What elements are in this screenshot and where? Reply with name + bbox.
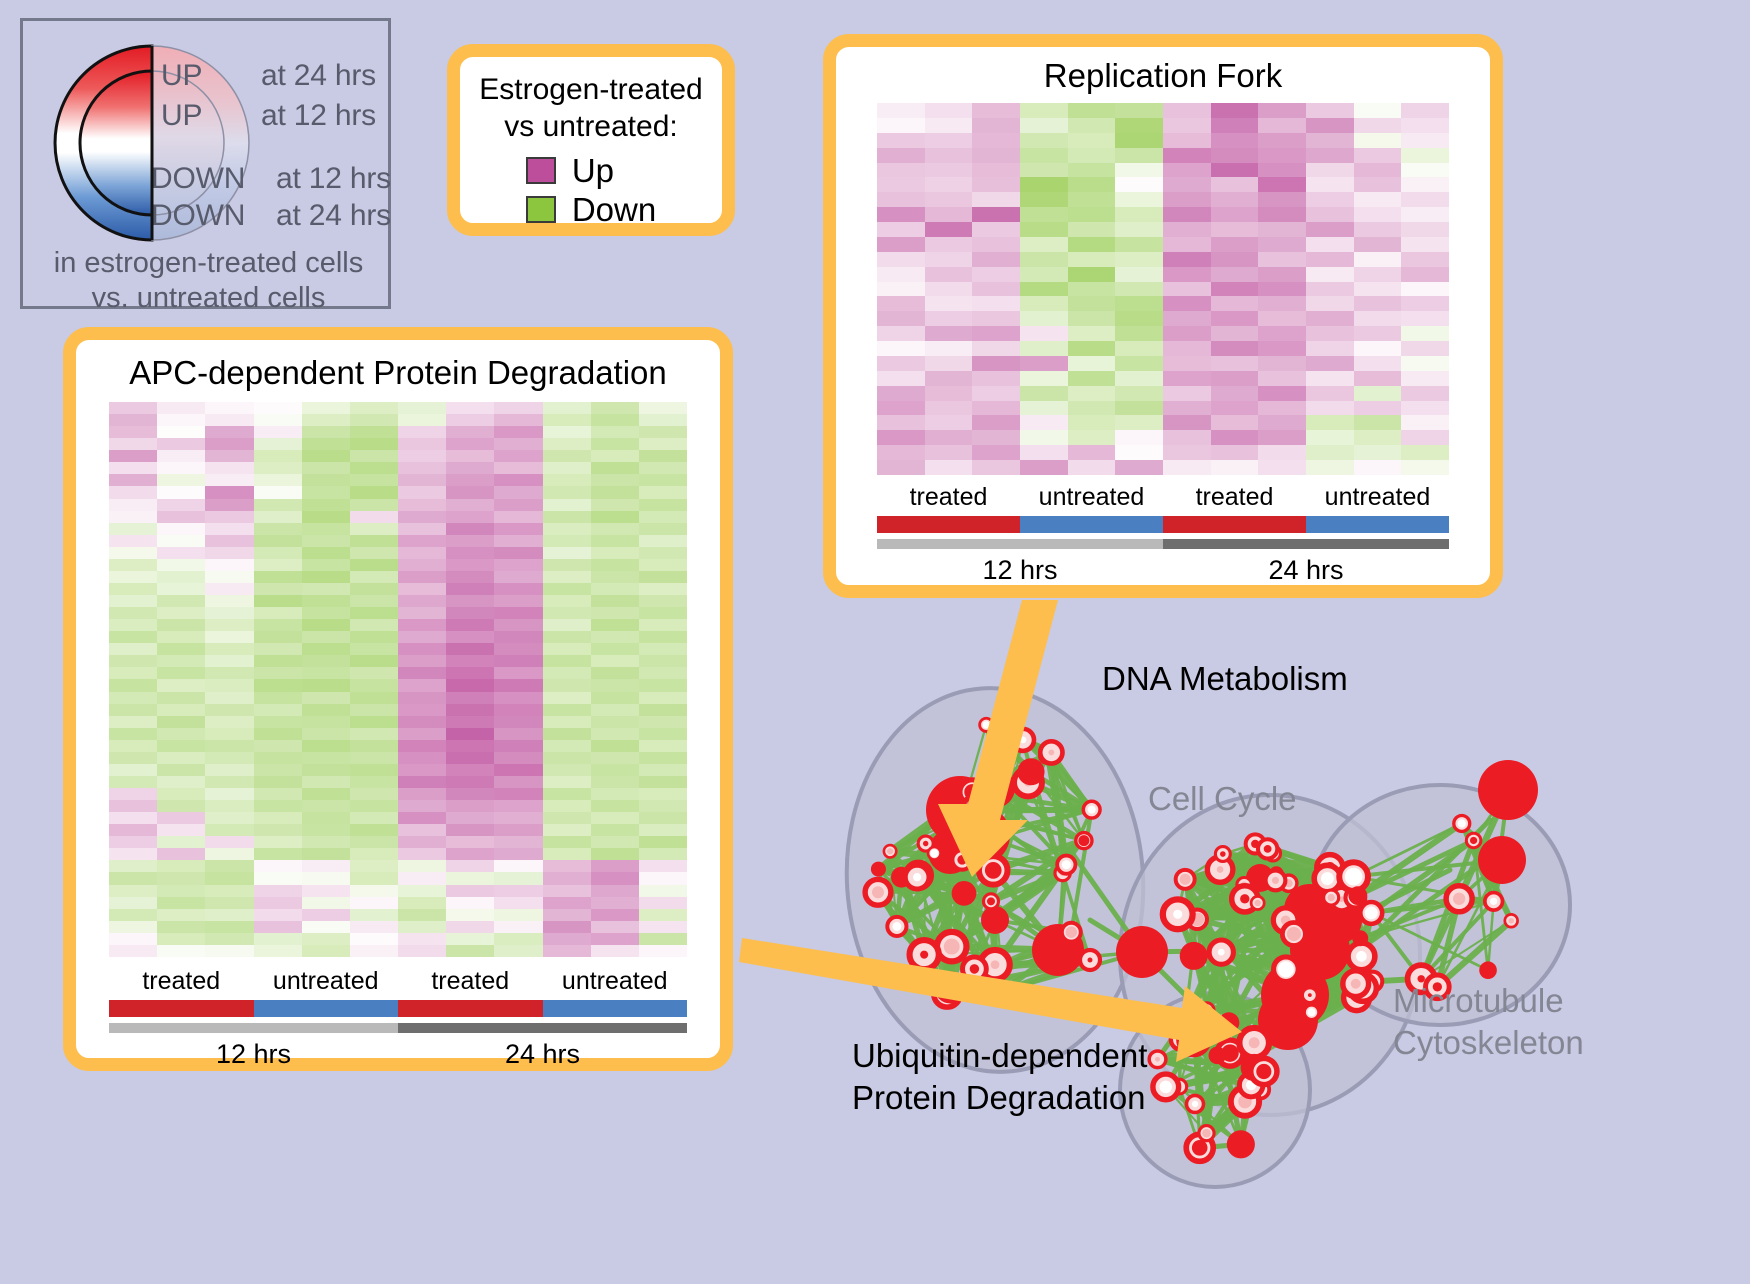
- heatmap-cell: [494, 897, 542, 909]
- heatmap-cell: [972, 311, 1020, 326]
- heatmap-cell: [972, 401, 1020, 416]
- heatmap-cell: [543, 933, 591, 945]
- heatmap-cell: [1115, 133, 1163, 148]
- heatmap-cell: [1306, 267, 1354, 282]
- heatmap-cell: [1354, 177, 1402, 192]
- network-node: [981, 906, 1009, 934]
- heatmap-row: [109, 885, 687, 897]
- heatmap-row: [109, 438, 687, 450]
- heatmap-cell: [205, 885, 253, 897]
- heatmap-cell: [639, 716, 687, 728]
- heatmap-cell: [205, 752, 253, 764]
- heatmap-cell: [1306, 401, 1354, 416]
- heatmap-cell: [157, 474, 205, 486]
- axis-group-label: treated: [109, 965, 254, 997]
- heatmap-cell: [972, 445, 1020, 460]
- heatmap-cell: [1115, 267, 1163, 282]
- heatmap-cell: [1115, 371, 1163, 386]
- heatmap-row: [109, 631, 687, 643]
- heatmap-cell: [543, 824, 591, 836]
- heatmap-cell: [398, 511, 446, 523]
- key-time-0: at 24 hrs: [261, 59, 376, 93]
- heatmap-row: [109, 486, 687, 498]
- legend-item-up: Up: [526, 151, 656, 190]
- pathway-network-diagram: DNA Metabolism Cell Cycle Microtubule Cy…: [790, 620, 1750, 1279]
- heatmap-row: [877, 207, 1449, 222]
- heatmap-cell: [925, 401, 973, 416]
- heatmap-cell: [109, 438, 157, 450]
- heatmap-cell: [157, 511, 205, 523]
- heatmap-cell: [494, 655, 542, 667]
- heatmap-cell: [302, 704, 350, 716]
- heatmap-cell: [591, 535, 639, 547]
- heatmap-cell: [1306, 460, 1354, 475]
- heatmap-cell: [1115, 148, 1163, 163]
- heatmap-cell: [109, 728, 157, 740]
- heatmap-row: [109, 860, 687, 872]
- heatmap-cell: [1306, 356, 1354, 371]
- heatmap-cell: [302, 848, 350, 860]
- heatmap-cell: [1354, 282, 1402, 297]
- heatmap-cell: [205, 776, 253, 788]
- network-node-core: [1264, 845, 1272, 853]
- heatmap-cell: [1306, 237, 1354, 252]
- heatmap-cell: [109, 607, 157, 619]
- heatmap-row: [877, 341, 1449, 356]
- heatmap-cell: [494, 486, 542, 498]
- heatmap-cell: [591, 643, 639, 655]
- heatmap-cell: [494, 824, 542, 836]
- heatmap-cell: [350, 559, 398, 571]
- heatmap-cell: [591, 945, 639, 957]
- heatmap-cell: [109, 499, 157, 511]
- heatmap-cell: [494, 740, 542, 752]
- heatmap-cell: [398, 848, 446, 860]
- heatmap-cell: [1211, 103, 1259, 118]
- heatmap-cell: [925, 445, 973, 460]
- network-node-core: [1345, 868, 1363, 886]
- heatmap-cell: [205, 631, 253, 643]
- heatmap-cell: [1306, 118, 1354, 133]
- heatmap-cell: [494, 788, 542, 800]
- heatmap-cell: [254, 933, 302, 945]
- heatmap-cell: [591, 414, 639, 426]
- heatmap-cell: [446, 836, 494, 848]
- heatmap-cell: [543, 945, 591, 957]
- heatmap-cell: [398, 764, 446, 776]
- heatmap-cell: [157, 812, 205, 824]
- heatmap-cell: [591, 438, 639, 450]
- heatmap-cell: [494, 909, 542, 921]
- heatmap-cell: [350, 523, 398, 535]
- heatmap-cell: [1211, 326, 1259, 341]
- heatmap-cell: [254, 812, 302, 824]
- heatmap-cell: [254, 402, 302, 414]
- heatmap-cell: [1354, 371, 1402, 386]
- heatmap-row: [109, 921, 687, 933]
- heatmap-cell: [109, 764, 157, 776]
- heatmap-cell: [205, 728, 253, 740]
- heatmap-cell: [302, 595, 350, 607]
- heatmap-cell: [109, 921, 157, 933]
- heatmap-cell: [254, 631, 302, 643]
- heatmap-cell: [1306, 148, 1354, 163]
- network-node-core: [1256, 1064, 1271, 1079]
- heatmap-row: [877, 177, 1449, 192]
- heatmap-cell: [639, 788, 687, 800]
- heatmap-row: [877, 103, 1449, 118]
- heatmap-cell: [639, 655, 687, 667]
- heatmap-cell: [109, 486, 157, 498]
- heatmap-row: [109, 752, 687, 764]
- heatmap-cell: [302, 499, 350, 511]
- heatmap-cell: [877, 415, 925, 430]
- heatmap-cell: [254, 499, 302, 511]
- heatmap-cell: [494, 462, 542, 474]
- heatmap-cell: [877, 430, 925, 445]
- heatmap-cell: [1115, 192, 1163, 207]
- heatmap-cell: [1258, 356, 1306, 371]
- heatmap-cell: [109, 511, 157, 523]
- heatmap-cell: [446, 872, 494, 884]
- heatmap-cell: [1068, 460, 1116, 475]
- heatmap-cell: [1306, 103, 1354, 118]
- heatmap-cell: [446, 704, 494, 716]
- heatmap-cell: [494, 752, 542, 764]
- axis-time-label: 12 hrs: [877, 549, 1163, 591]
- heatmap-cell: [639, 426, 687, 438]
- heatmap-cell: [109, 836, 157, 848]
- heatmap-cell: [350, 535, 398, 547]
- heatmap-cell: [109, 752, 157, 764]
- heatmap-row: [877, 163, 1449, 178]
- heatmap-cell: [591, 402, 639, 414]
- heatmap-cell: [591, 764, 639, 776]
- heatmap-cell: [591, 885, 639, 897]
- network-node: [966, 799, 987, 820]
- heatmap-row: [109, 764, 687, 776]
- network-node-core: [947, 984, 955, 992]
- network-node-core: [985, 862, 1002, 879]
- heatmap-cell: [398, 583, 446, 595]
- heatmap-cell: [157, 897, 205, 909]
- heatmap-cell: [877, 356, 925, 371]
- heatmap-cell: [1068, 103, 1116, 118]
- heatmap-cell: [1068, 282, 1116, 297]
- heatmap-cell: [591, 595, 639, 607]
- heatmap-cell: [254, 486, 302, 498]
- heatmap-row: [877, 267, 1449, 282]
- heatmap-cell: [446, 897, 494, 909]
- heatmap-cell: [1354, 356, 1402, 371]
- heatmap-cell: [157, 752, 205, 764]
- heatmap-cell: [543, 607, 591, 619]
- heatmap-cell: [494, 595, 542, 607]
- heatmap-cell: [157, 824, 205, 836]
- heatmap-cell: [877, 282, 925, 297]
- heatmap-cell: [205, 716, 253, 728]
- heatmap-cell: [109, 535, 157, 547]
- axis-time-segment: [877, 539, 1163, 549]
- heatmap-cell: [205, 499, 253, 511]
- heatmap-cell: [350, 740, 398, 752]
- heatmap-cell: [877, 103, 925, 118]
- heatmap-cell: [109, 414, 157, 426]
- network-node-core: [1308, 1008, 1316, 1016]
- heatmap-cell: [1020, 386, 1068, 401]
- heatmap-cell: [494, 643, 542, 655]
- heatmap-cell: [205, 788, 253, 800]
- heatmap-cell: [302, 571, 350, 583]
- heatmap-cell: [1401, 222, 1449, 237]
- heatmap-cell: [1020, 311, 1068, 326]
- heatmap-cell: [109, 776, 157, 788]
- heatmap-cell: [1115, 207, 1163, 222]
- heatmap-cell: [543, 438, 591, 450]
- heatmap-cell: [1258, 133, 1306, 148]
- heatmap-cell: [639, 414, 687, 426]
- network-node-core: [1328, 894, 1335, 901]
- heatmap-cell: [877, 118, 925, 133]
- key-caption-line1: in estrogen-treated cells: [23, 244, 394, 282]
- heatmap-cell: [543, 897, 591, 909]
- heatmap-cell: [494, 607, 542, 619]
- heatmap-cell: [1163, 341, 1211, 356]
- heatmap-cell: [446, 945, 494, 957]
- heatmap-cell: [157, 595, 205, 607]
- heatmap-cell: [1306, 252, 1354, 267]
- heatmap-cell: [446, 752, 494, 764]
- heatmap-cell: [109, 945, 157, 957]
- network-node: [952, 881, 977, 906]
- heatmap-cell: [157, 535, 205, 547]
- heatmap-row: [109, 595, 687, 607]
- network-node-core: [1203, 1007, 1210, 1014]
- heatmap-cell: [205, 921, 253, 933]
- legend-swatch-up-icon: [526, 157, 556, 184]
- network-node-core: [991, 960, 1000, 969]
- heatmap-cell: [1258, 460, 1306, 475]
- heatmap-cell: [446, 426, 494, 438]
- heatmap-cell: [1258, 430, 1306, 445]
- heatmap-cell: [1306, 207, 1354, 222]
- heatmap-cell: [1163, 163, 1211, 178]
- heatmap-cell: [1354, 460, 1402, 475]
- heatmap-cell: [925, 163, 973, 178]
- heatmap-cell: [972, 415, 1020, 430]
- heatmap-cell: [1258, 326, 1306, 341]
- heatmap-cell: [1115, 252, 1163, 267]
- heatmap-cell: [494, 571, 542, 583]
- heatmap-row: [109, 402, 687, 414]
- heatmap-cell: [157, 704, 205, 716]
- heatmap-cell: [639, 535, 687, 547]
- heatmap-cell: [1306, 371, 1354, 386]
- heatmap-cell: [254, 885, 302, 897]
- heatmap-cell: [591, 511, 639, 523]
- heatmap-cell: [925, 296, 973, 311]
- heatmap-cell: [446, 438, 494, 450]
- heatmap-cell: [446, 583, 494, 595]
- heatmap-row: [109, 499, 687, 511]
- heatmap-cell: [1354, 148, 1402, 163]
- heatmap-cell: [1401, 430, 1449, 445]
- heatmap-cell: [157, 607, 205, 619]
- network-node: [1173, 1008, 1197, 1032]
- heatmap-cell: [446, 764, 494, 776]
- heatmap-cell: [972, 118, 1020, 133]
- network-node-core: [1272, 877, 1279, 884]
- heatmap-cell: [350, 885, 398, 897]
- heatmap-cell: [925, 356, 973, 371]
- heatmap-cell: [591, 426, 639, 438]
- heatmap-cell: [1068, 356, 1116, 371]
- heatmap-cell: [109, 462, 157, 474]
- heatmap-cell: [205, 571, 253, 583]
- heatmap-cell: [877, 460, 925, 475]
- heatmap-cell: [1401, 177, 1449, 192]
- heatmap-cell: [1020, 371, 1068, 386]
- network-node-core: [983, 721, 990, 728]
- heatmap-cell: [1068, 252, 1116, 267]
- heatmap-cell: [1258, 445, 1306, 460]
- network-node-core: [1470, 837, 1477, 844]
- heatmap-cell: [398, 643, 446, 655]
- heatmap-cell: [398, 523, 446, 535]
- heatmap-cell: [350, 474, 398, 486]
- heatmap-cell: [1258, 371, 1306, 386]
- heatmap-cell: [494, 414, 542, 426]
- heatmap-row: [109, 679, 687, 691]
- network-node-core: [887, 848, 893, 854]
- network-node-core: [1087, 957, 1092, 962]
- heatmap-cell: [205, 402, 253, 414]
- heatmap-cell: [157, 716, 205, 728]
- heatmap-cell: [398, 788, 446, 800]
- heatmap-cell: [639, 667, 687, 679]
- heatmap-cell: [543, 631, 591, 643]
- heatmap-cell: [639, 607, 687, 619]
- heatmap-cell: [1163, 311, 1211, 326]
- heatmap-cell: [302, 812, 350, 824]
- key-caption-line2: vs. untreated cells: [23, 279, 394, 317]
- heatmap-cell: [157, 740, 205, 752]
- heatmap-cell: [109, 559, 157, 571]
- heatmap-cell: [109, 848, 157, 860]
- heatmap-cell: [1068, 133, 1116, 148]
- heatmap-cell: [543, 511, 591, 523]
- heatmap-cell: [157, 692, 205, 704]
- heatmap-cell: [254, 824, 302, 836]
- heatmap-cell: [1354, 207, 1402, 222]
- heatmap-cell: [398, 897, 446, 909]
- heatmap-cell: [639, 438, 687, 450]
- heatmap-cell: [1401, 207, 1449, 222]
- heatmap-cell: [494, 716, 542, 728]
- heatmap-cell: [398, 474, 446, 486]
- heatmap-cell: [972, 282, 1020, 297]
- heatmap-row: [109, 848, 687, 860]
- heatmap-cell: [205, 812, 253, 824]
- panel-title-replication-fork: Replication Fork: [836, 57, 1490, 95]
- heatmap-cell: [639, 499, 687, 511]
- heatmap-cell: [446, 800, 494, 812]
- heatmap-cell: [591, 812, 639, 824]
- heatmap-cell: [254, 655, 302, 667]
- heatmap-cell: [109, 812, 157, 824]
- heatmap-cell: [972, 222, 1020, 237]
- heatmap-cell: [1020, 341, 1068, 356]
- heatmap-cell: [591, 776, 639, 788]
- heatmap-cell: [157, 583, 205, 595]
- heatmap-cell: [543, 860, 591, 872]
- heatmap-cell: [972, 192, 1020, 207]
- heatmap-cell: [205, 860, 253, 872]
- heatmap-cell: [398, 631, 446, 643]
- network-graph: [790, 620, 1750, 1279]
- network-node-core: [920, 951, 928, 959]
- heatmap-cell: [205, 547, 253, 559]
- heatmap-cell: [543, 872, 591, 884]
- network-node-core: [1508, 918, 1514, 924]
- heatmap-cell: [254, 619, 302, 631]
- heatmap-cell: [254, 559, 302, 571]
- heatmap-cell: [1068, 237, 1116, 252]
- heatmap-row: [877, 401, 1449, 416]
- heatmap-cell: [398, 679, 446, 691]
- heatmap-cell: [205, 679, 253, 691]
- heatmap-cell: [302, 885, 350, 897]
- network-node-core: [998, 986, 1008, 996]
- cluster-label-ubiquitin-line2: Protein Degradation: [852, 1077, 1147, 1119]
- heatmap-row: [877, 133, 1449, 148]
- heatmap-cell: [1068, 386, 1116, 401]
- heatmap-cell: [494, 921, 542, 933]
- heatmap-cell: [1020, 252, 1068, 267]
- heatmap-cell: [350, 800, 398, 812]
- heatmap-cell: [350, 595, 398, 607]
- network-node-core: [1249, 1037, 1260, 1048]
- axis-group-segment: [877, 516, 1020, 533]
- heatmap-cell: [639, 679, 687, 691]
- heatmap-cell: [205, 764, 253, 776]
- heatmap-cell: [109, 933, 157, 945]
- heatmap-cell: [205, 836, 253, 848]
- heatmap-cell: [639, 933, 687, 945]
- heatmap-cell: [639, 704, 687, 716]
- heatmap-cell: [350, 402, 398, 414]
- network-node-core: [1173, 910, 1182, 919]
- heatmap-cell: [205, 667, 253, 679]
- heatmap-cell: [1306, 296, 1354, 311]
- heatmap-cell: [302, 438, 350, 450]
- heatmap-cell: [543, 728, 591, 740]
- network-node: [1116, 926, 1168, 978]
- axis-time-labels-rf: 12 hrs24 hrs: [877, 549, 1449, 591]
- heatmap-cell: [1163, 177, 1211, 192]
- heatmap-cell: [398, 414, 446, 426]
- heatmap-cell: [109, 631, 157, 643]
- heatmap-cell: [1163, 460, 1211, 475]
- heatmap-cell: [543, 812, 591, 824]
- heatmap-cell: [398, 740, 446, 752]
- heatmap-cell: [1306, 282, 1354, 297]
- heatmap-cell: [446, 619, 494, 631]
- heatmap-cell: [543, 740, 591, 752]
- network-node-core: [1062, 860, 1071, 869]
- heatmap-cell: [639, 945, 687, 957]
- network-node-core: [1278, 961, 1294, 977]
